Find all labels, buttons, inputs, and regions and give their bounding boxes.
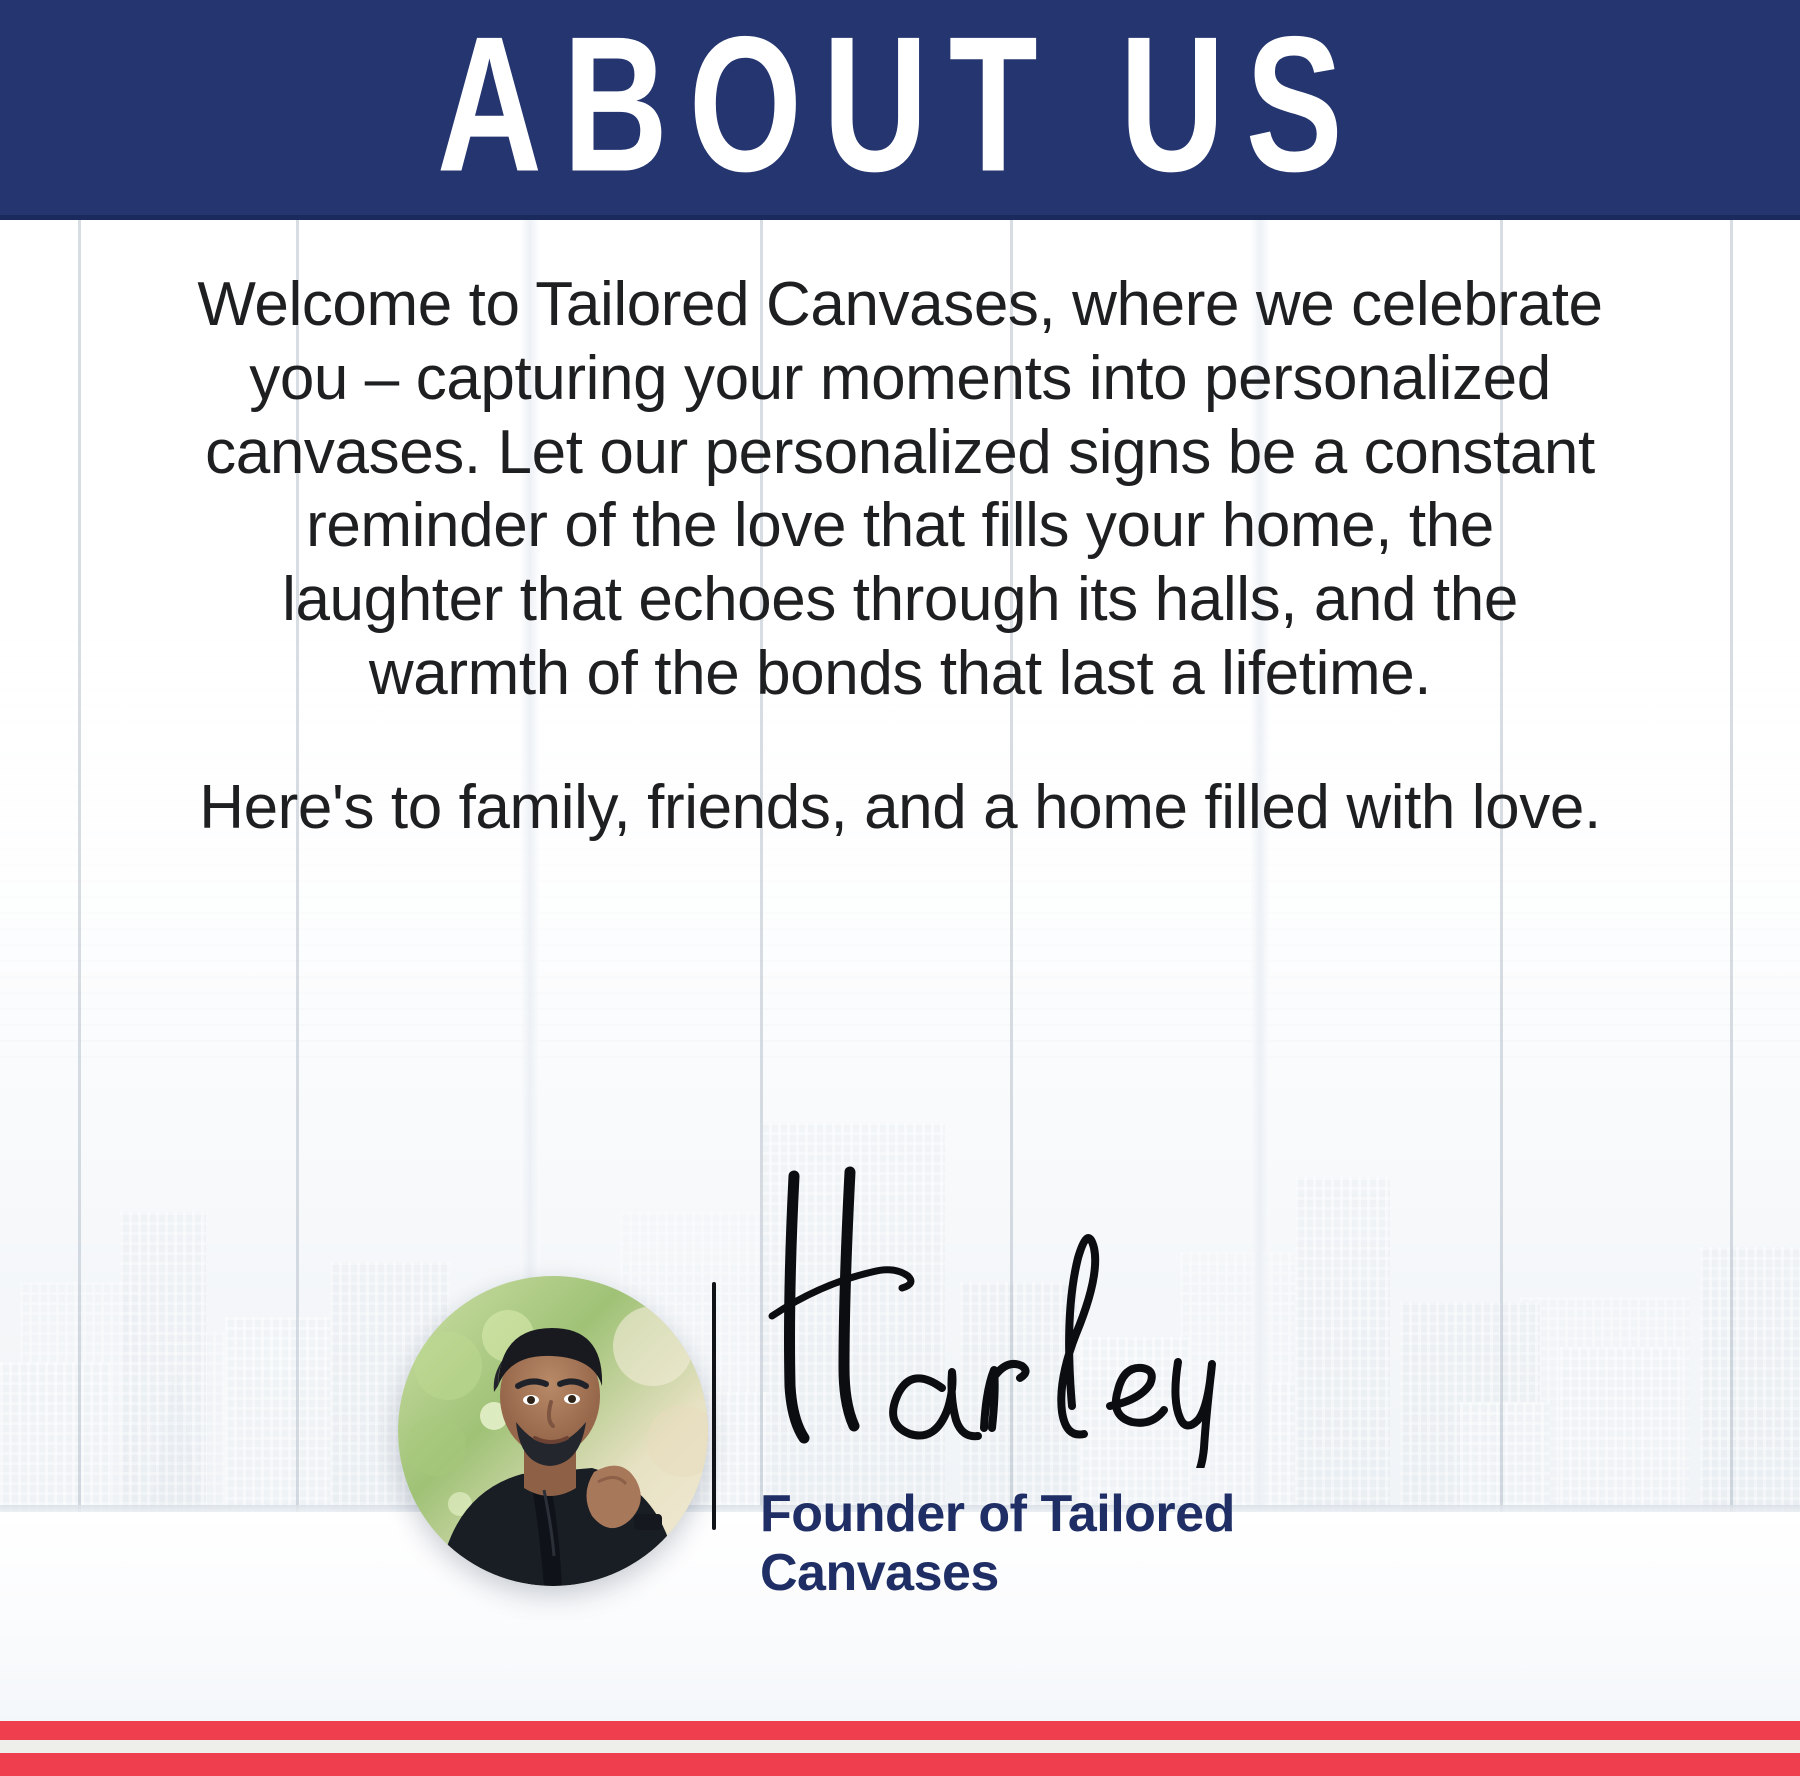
avatar — [398, 1276, 708, 1586]
footer-stripe-gap — [0, 1740, 1800, 1753]
footer-stripe-bottom — [0, 1753, 1800, 1776]
paragraph-spacer — [190, 711, 1610, 771]
footer-stripe-top — [0, 1721, 1800, 1740]
signature-script — [742, 1138, 1262, 1468]
about-us-poster: ABOUT US Welcome to Tailored Canvases, w… — [0, 0, 1800, 1776]
about-paragraph-1: Welcome to Tailored Canvases, where we c… — [190, 268, 1610, 711]
signature-role: Founder of Tailored Canvases — [760, 1485, 1320, 1604]
signature-divider — [712, 1282, 716, 1530]
signature-role-line-1: Founder of Tailored — [760, 1485, 1320, 1544]
about-paragraph-2: Here's to family, friends, and a home fi… — [190, 771, 1610, 845]
signature-role-line-2: Canvases — [760, 1544, 1320, 1603]
header-band: ABOUT US — [0, 0, 1800, 215]
about-copy: Welcome to Tailored Canvases, where we c… — [190, 268, 1610, 844]
page-title: ABOUT US — [437, 7, 1364, 208]
header-underline — [0, 215, 1800, 220]
